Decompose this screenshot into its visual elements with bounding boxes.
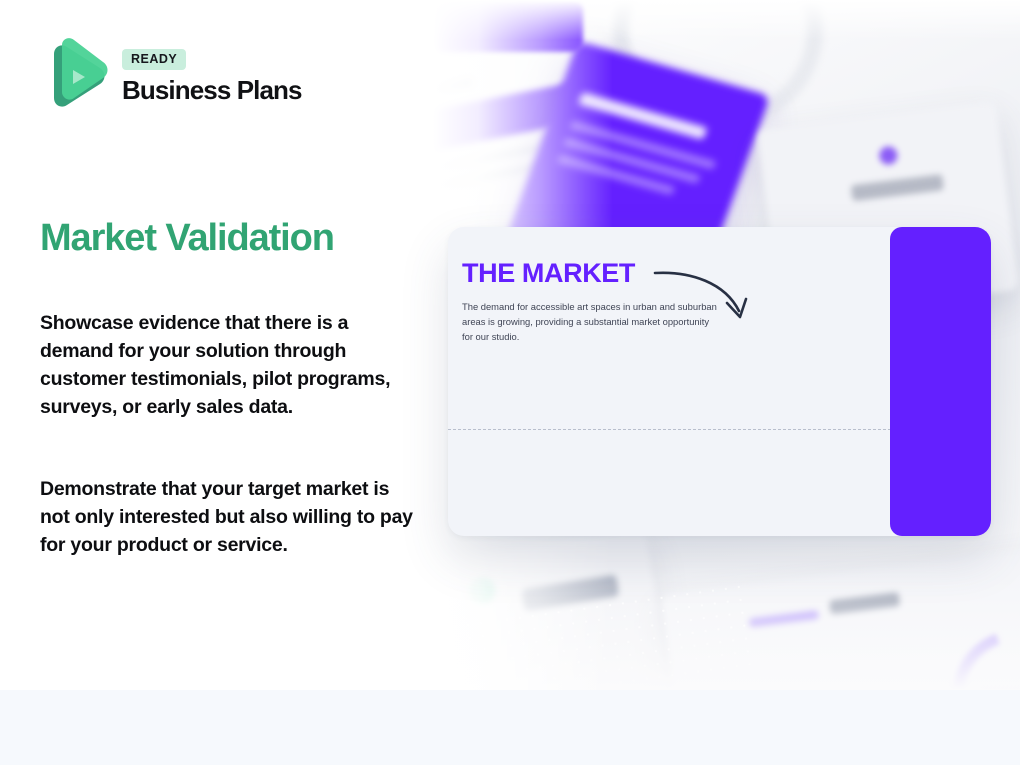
the-market-card: THE MARKET The demand for accessible art… bbox=[448, 227, 991, 536]
page-title: Market Validation bbox=[40, 217, 334, 260]
slide-page: THE MARKET The demand for accessible art… bbox=[0, 0, 1020, 765]
market-card-title: THE MARKET bbox=[462, 258, 635, 289]
ready-badge: READY bbox=[122, 49, 186, 70]
left-content-panel: READY Business Plans Market Validation S… bbox=[0, 0, 440, 690]
brand-lockup: READY Business Plans bbox=[40, 38, 302, 116]
bottom-strip bbox=[0, 690, 1020, 765]
brand-name: Business Plans bbox=[122, 75, 302, 106]
curved-down-right-arrow-icon bbox=[653, 267, 763, 327]
body-paragraph: Demonstrate that your target market is n… bbox=[40, 475, 420, 559]
brand-text: READY Business Plans bbox=[122, 49, 302, 106]
body-paragraph: Showcase evidence that there is a demand… bbox=[40, 309, 420, 421]
mock-bar bbox=[851, 174, 944, 201]
mock-dot bbox=[878, 146, 898, 166]
accent-purple-block bbox=[890, 227, 991, 536]
play-triangle-logo-icon bbox=[40, 38, 108, 116]
